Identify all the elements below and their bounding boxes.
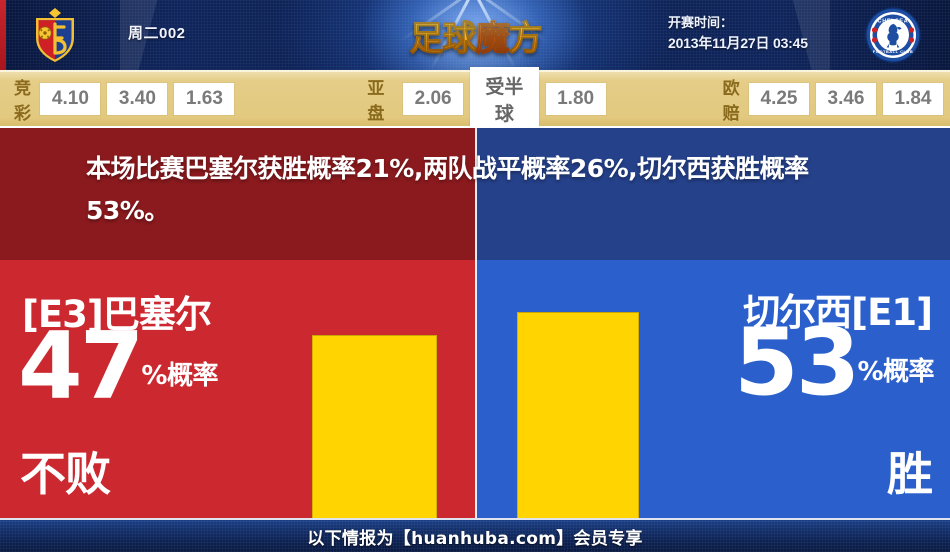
probability-chart: [E3]巴塞尔 47 %概率 不败 切尔西[E1] 53 %概率 胜: [0, 260, 950, 518]
svg-text:CHELSEA: CHELSEA: [878, 19, 909, 25]
footer-bar: 以下情报为【huanhuba.com】会员专享: [0, 518, 950, 552]
home-probability-bar: [312, 335, 437, 518]
odds-cell[interactable]: 2.06: [403, 83, 463, 115]
odds-cell[interactable]: 1.63: [174, 83, 234, 115]
svg-text:FOOTBALL CLUB: FOOTBALL CLUB: [873, 49, 913, 54]
odds-group-yapan: 亚盘 2.06 受半球 1.80: [367, 67, 612, 131]
odds-cell[interactable]: 4.25: [749, 83, 809, 115]
odds-bar: 竞彩 4.10 3.40 1.63 亚盘 2.06 受半球 1.80 欧赔 4.…: [0, 70, 950, 126]
kickoff-info: 开赛时间： 2013年11月27日 03:45: [668, 12, 808, 54]
away-percent-suffix: %概率: [857, 351, 934, 404]
odds-handicap-cell[interactable]: 受半球: [470, 67, 538, 131]
header-bar: 周二002 足球魔方 开赛时间： 2013年11月27日 03:45: [0, 0, 950, 70]
odds-group-label: 亚盘: [367, 74, 395, 124]
home-verdict-label: 不败: [20, 438, 110, 504]
away-percent-value: 53: [734, 322, 857, 404]
match-number-label: 周二002: [128, 22, 186, 43]
chelsea-crest-icon: CHELSEA FOOTBALL CLUB: [862, 5, 924, 65]
probability-banner: 本场比赛巴塞尔获胜概率21%,两队战平概率26%,切尔西获胜概率53%。: [0, 128, 950, 260]
away-probability-bar: [517, 312, 639, 518]
home-team-panel: [E3]巴塞尔 47 %概率 不败: [0, 260, 475, 518]
away-team-panel: 切尔西[E1] 53 %概率 胜: [475, 260, 950, 518]
odds-cell[interactable]: 3.46: [816, 83, 876, 115]
home-percent-value: 47: [18, 326, 141, 408]
kickoff-label: 开赛时间：: [668, 12, 808, 33]
kickoff-datetime: 2013年11月27日 03:45: [668, 33, 808, 54]
odds-group-label: 竞彩: [14, 74, 32, 124]
brand-highlight: 魔: [476, 19, 509, 59]
away-percent-row: 53 %概率: [734, 322, 934, 404]
odds-cell[interactable]: 1.80: [546, 83, 606, 115]
probability-summary-text: 本场比赛巴塞尔获胜概率21%,两队战平概率26%,切尔西获胜概率53%。: [86, 148, 876, 232]
header-left-accent: [0, 0, 6, 70]
brand-logo-text: 足球魔方: [410, 11, 542, 60]
odds-cell[interactable]: 4.10: [40, 83, 100, 115]
away-verdict-label: 胜: [887, 438, 932, 504]
odds-group-label: 欧赔: [723, 74, 741, 124]
footer-notice-text: 以下情报为【huanhuba.com】会员专享: [307, 524, 642, 549]
odds-group-jingcai: 竞彩 4.10 3.40 1.63: [14, 74, 241, 124]
brand-logo: 足球魔方: [398, 8, 553, 62]
home-percent-suffix: %概率: [141, 355, 218, 408]
odds-group-oupei: 欧赔 4.25 3.46 1.84: [723, 74, 950, 124]
brand-prefix: 足球: [410, 19, 476, 59]
brand-suffix: 方: [509, 19, 542, 59]
odds-cell[interactable]: 3.40: [107, 83, 167, 115]
home-percent-row: 47 %概率: [18, 326, 218, 408]
fc-basel-crest-icon: [24, 5, 86, 65]
infographic-root: 周二002 足球魔方 开赛时间： 2013年11月27日 03:45: [0, 0, 950, 552]
odds-cell[interactable]: 1.84: [883, 83, 943, 115]
